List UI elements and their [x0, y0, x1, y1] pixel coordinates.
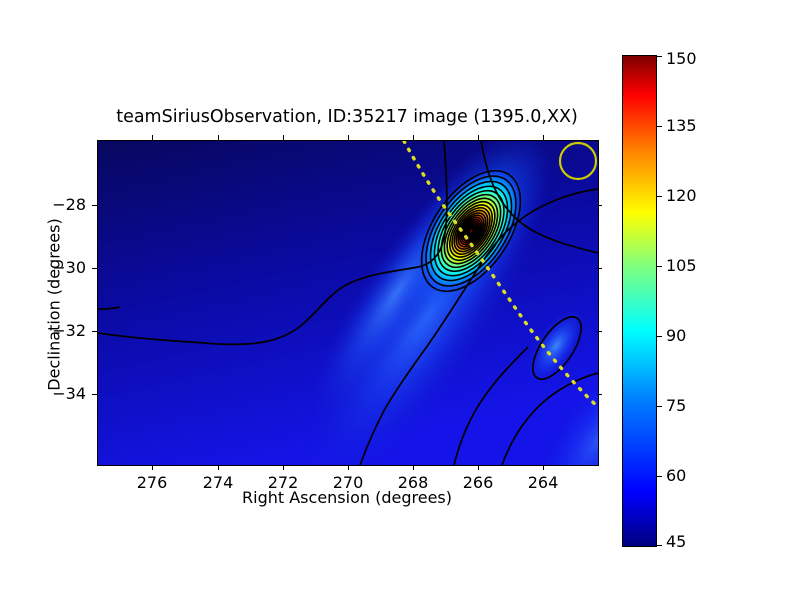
- cbtick-mark: [657, 545, 662, 546]
- sky-image-axes[interactable]: [97, 140, 599, 466]
- cbtick-label: 75: [666, 396, 686, 415]
- xtick-mark: [283, 465, 284, 470]
- xtick-mark-top: [413, 135, 414, 140]
- cbtick-label: 135: [666, 116, 697, 135]
- xtick-mark: [152, 465, 153, 470]
- ytick-mark-right: [597, 268, 602, 269]
- cbtick-mark: [657, 126, 662, 127]
- xtick-mark: [543, 465, 544, 470]
- ytick-mark: [92, 268, 97, 269]
- beam-circle-marker: [560, 143, 596, 179]
- ytick-mark: [92, 331, 97, 332]
- xtick-mark-top: [152, 135, 153, 140]
- cbtick-mark: [657, 56, 662, 57]
- ytick-mark-right: [597, 205, 602, 206]
- cbtick-mark: [657, 196, 662, 197]
- xtick-mark: [413, 465, 414, 470]
- cbtick-label: 150: [666, 49, 697, 68]
- xtick-mark-top: [218, 135, 219, 140]
- ytick-mark-right: [597, 331, 602, 332]
- xtick-mark-top: [348, 135, 349, 140]
- ytick-mark: [92, 205, 97, 206]
- xtick-mark: [348, 465, 349, 470]
- cbtick-label: 120: [666, 186, 697, 205]
- page-title: teamSiriusObservation, ID:35217 image (1…: [97, 106, 597, 128]
- xtick-mark-top: [283, 135, 284, 140]
- cbtick-label: 90: [666, 326, 686, 345]
- xtick-mark-top: [478, 135, 479, 140]
- figure-canvas: teamSiriusObservation, ID:35217 image (1…: [0, 0, 800, 600]
- cbtick-mark: [657, 336, 662, 337]
- cbtick-label: 45: [666, 532, 686, 551]
- overlay-annotations: [98, 141, 598, 465]
- colorbar[interactable]: [622, 55, 657, 547]
- xtick-mark-top: [543, 135, 544, 140]
- xtick-mark: [218, 465, 219, 470]
- ytick-mark-right: [597, 394, 602, 395]
- ytick-mark: [92, 394, 97, 395]
- cbtick-mark: [657, 406, 662, 407]
- xtick-mark: [478, 465, 479, 470]
- cbtick-label: 60: [666, 466, 686, 485]
- cbtick-label: 105: [666, 256, 697, 275]
- cbtick-mark: [657, 266, 662, 267]
- y-axis-label: Declination (degrees): [45, 143, 64, 467]
- axes-inner: [98, 141, 598, 465]
- x-axis-label: Right Ascension (degrees): [97, 488, 597, 507]
- galactic-plane-track: [404, 141, 598, 407]
- cbtick-mark: [657, 476, 662, 477]
